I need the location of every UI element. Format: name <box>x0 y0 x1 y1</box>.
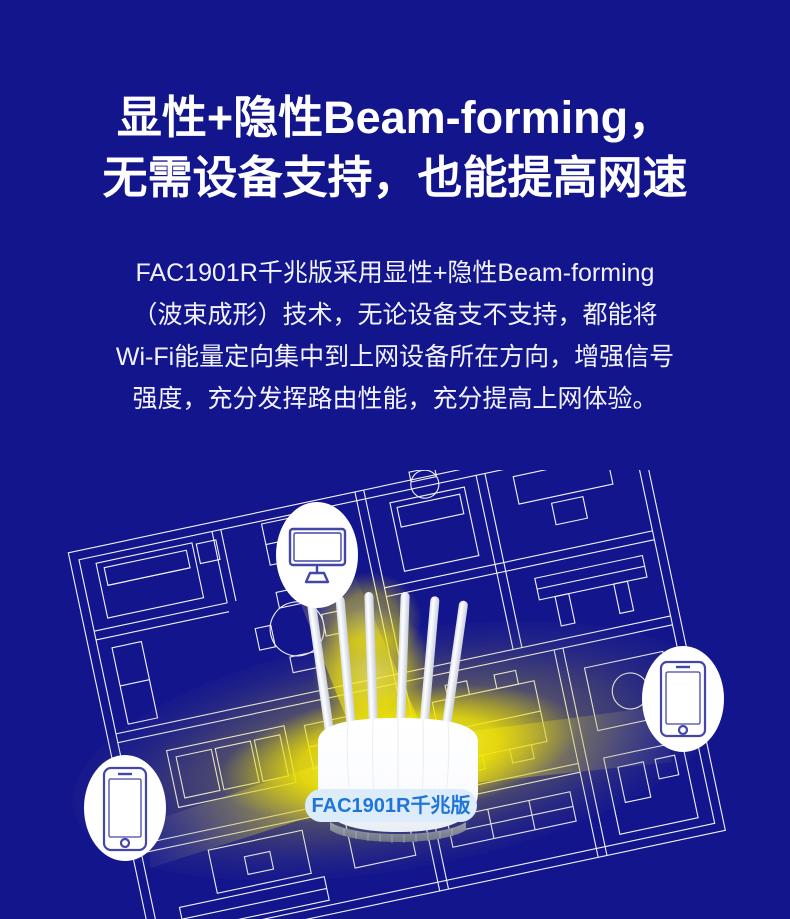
promo-page: 显性+隐性Beam-forming， 无需设备支持，也能提高网速 FAC1901… <box>0 0 790 919</box>
description-line-3: Wi-Fi能量定向集中到上网设备所在方向，增强信号 <box>0 336 790 378</box>
description-paragraph: FAC1901R千兆版采用显性+隐性Beam-forming （波束成形）技术，… <box>0 252 790 420</box>
coverage-illustration: FAC1901R千兆版 <box>0 470 790 919</box>
headline-line-1: 显性+隐性Beam-forming， <box>0 88 790 148</box>
smartphone-icon <box>104 768 146 850</box>
device-bubble-monitor[interactable] <box>276 502 358 608</box>
device-bubble-tablet[interactable] <box>642 646 724 752</box>
description-line-1: FAC1901R千兆版采用显性+隐性Beam-forming <box>0 252 790 294</box>
product-badge-label: FAC1901R千兆版 <box>312 793 471 817</box>
headline-line-2: 无需设备支持，也能提高网速 <box>0 148 790 208</box>
tablet-icon <box>661 662 705 736</box>
product-badge: FAC1901R千兆版 <box>305 789 477 822</box>
device-bubble-smartphone[interactable] <box>84 755 166 861</box>
description-line-2: （波束成形）技术，无论设备支不支持，都能将 <box>0 294 790 336</box>
description-line-4: 强度，充分发挥路由性能，充分提高上网体验。 <box>0 378 790 420</box>
page-title: 显性+隐性Beam-forming， 无需设备支持，也能提高网速 <box>0 88 790 208</box>
